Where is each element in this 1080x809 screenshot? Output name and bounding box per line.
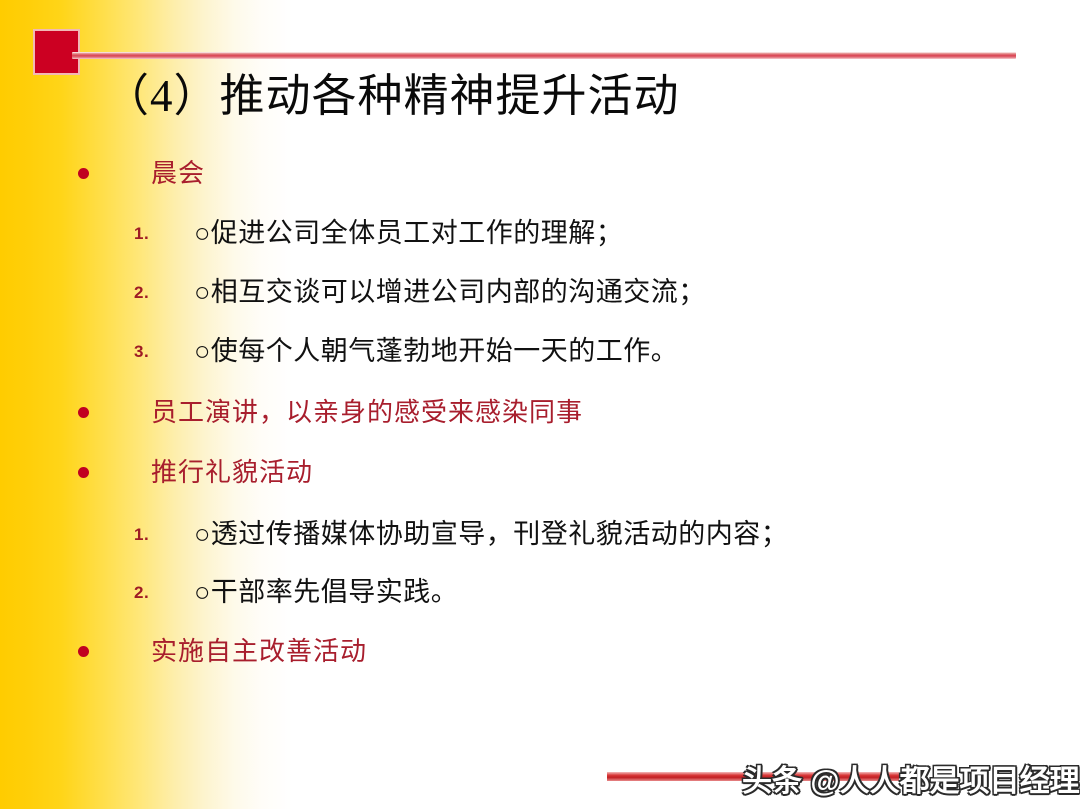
list-item: 1.○透过传播媒体协助宣导，刊登礼貌活动的内容； [134,512,788,551]
list-item-label: ○干部率先倡导实践。 [194,570,458,609]
bullet-dot-icon [78,646,89,657]
watermark-label: 头条 @人人都是项目经理 [742,756,1080,800]
list-item-number: 1. [134,525,156,545]
list-item-label: 推行礼貌活动 [151,452,313,489]
list-item: 推行礼貌活动 [78,452,313,489]
list-item-number: 1. [134,224,156,244]
list-item-label: ○透过传播媒体协助宣导，刊登礼貌活动的内容； [194,512,788,551]
list-item-label: 员工演讲，以亲身的感受来感染同事 [151,392,583,429]
bullet-dot-icon [78,168,89,179]
list-item: 2.○干部率先倡导实践。 [134,570,458,609]
list-item: 实施自主改善活动 [78,631,367,668]
list-item: 2.○相互交谈可以增进公司内部的沟通交流； [134,270,706,309]
list-item: 3.○使每个人朝气蓬勃地开始一天的工作。 [134,329,678,368]
header-rule-divider [72,52,1016,59]
list-item: 1.○促进公司全体员工对工作的理解； [134,211,623,250]
list-item-label: ○使每个人朝气蓬勃地开始一天的工作。 [194,329,678,368]
page-title: （4）推动各种精神提升活动 [104,71,680,121]
list-item-label: ○促进公司全体员工对工作的理解； [194,211,623,250]
list-item-label: 晨会 [151,153,205,190]
bullet-dot-icon [78,467,89,478]
list-item-number: 3. [134,342,156,362]
list-item-label: ○相互交谈可以增进公司内部的沟通交流； [194,270,706,309]
list-item-number: 2. [134,283,156,303]
list-item-label: 实施自主改善活动 [151,631,367,668]
list-item: 员工演讲，以亲身的感受来感染同事 [78,392,583,429]
list-item: 晨会 [78,153,205,190]
bullet-dot-icon [78,407,89,418]
slide-canvas: （4）推动各种精神提升活动 晨会 1.○促进公司全体员工对工作的理解； 2.○相… [0,0,1080,809]
list-item-number: 2. [134,583,156,603]
